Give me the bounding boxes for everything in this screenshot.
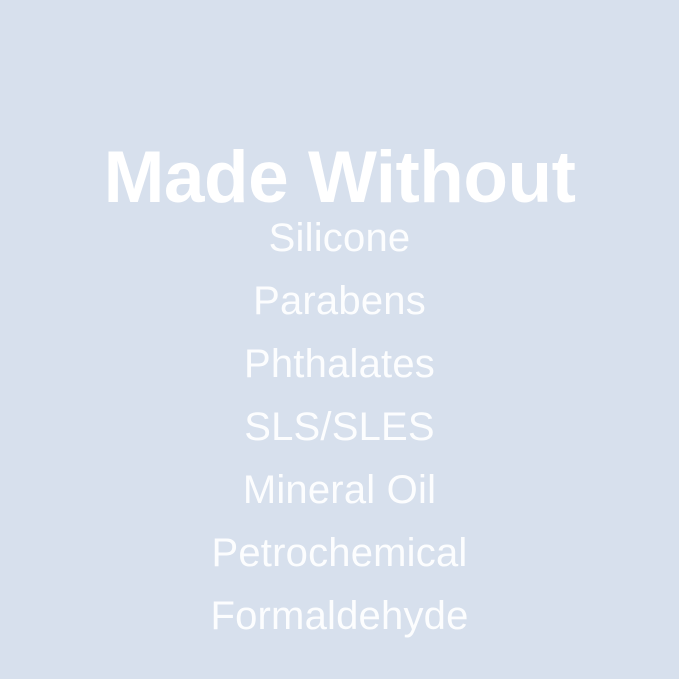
made-without-card: Made Without Silicone Parabens Phthalate… xyxy=(0,0,679,679)
list-item: Mineral Oil xyxy=(0,459,679,522)
list-item: Formaldehyde xyxy=(0,585,679,648)
list-item: Silicone xyxy=(0,207,679,270)
list-item: Parabens xyxy=(0,270,679,333)
page-title: Made Without xyxy=(0,141,679,214)
list-item: Petrochemical xyxy=(0,522,679,585)
exclusion-list: Silicone Parabens Phthalates SLS/SLES Mi… xyxy=(0,207,679,648)
list-item: SLS/SLES xyxy=(0,396,679,459)
list-item: Phthalates xyxy=(0,333,679,396)
